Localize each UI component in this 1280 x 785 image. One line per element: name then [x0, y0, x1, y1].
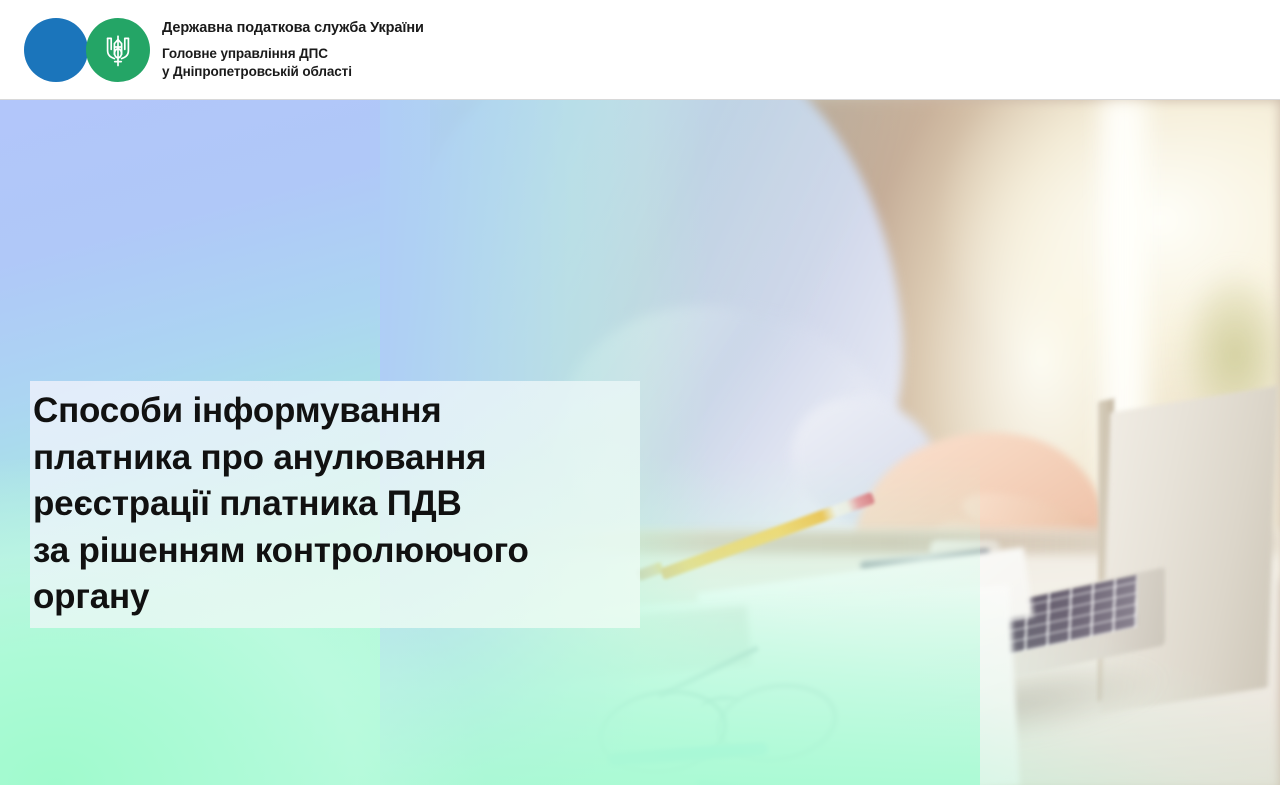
ukraine-tryzub-icon: [103, 32, 133, 68]
presentation-slide: Державна податкова служба України Головн…: [0, 0, 1280, 785]
header-text-block: Державна податкова служба України Головн…: [162, 19, 424, 82]
hero-title: Способи інформування платника про анулюв…: [33, 388, 645, 621]
logo-blue-circle-icon: [24, 18, 88, 82]
site-header: Державна податкова служба України Головн…: [0, 0, 1280, 100]
hero-banner: Способи інформування платника про анулюв…: [0, 100, 1280, 785]
organization-title: Державна податкова служба України: [162, 19, 424, 37]
organization-subtitle: Головне управління ДПС у Дніпропетровськ…: [162, 45, 424, 81]
organization-subtitle-line2: у Дніпропетровській області: [162, 63, 424, 81]
logo-green-circle-icon: [86, 18, 150, 82]
hero-title-card: Способи інформування платника про анулюв…: [30, 381, 640, 628]
organization-subtitle-line1: Головне управління ДПС: [162, 45, 424, 63]
dps-logo[interactable]: [24, 18, 152, 82]
header-brand[interactable]: Державна податкова служба України Головн…: [24, 0, 424, 100]
